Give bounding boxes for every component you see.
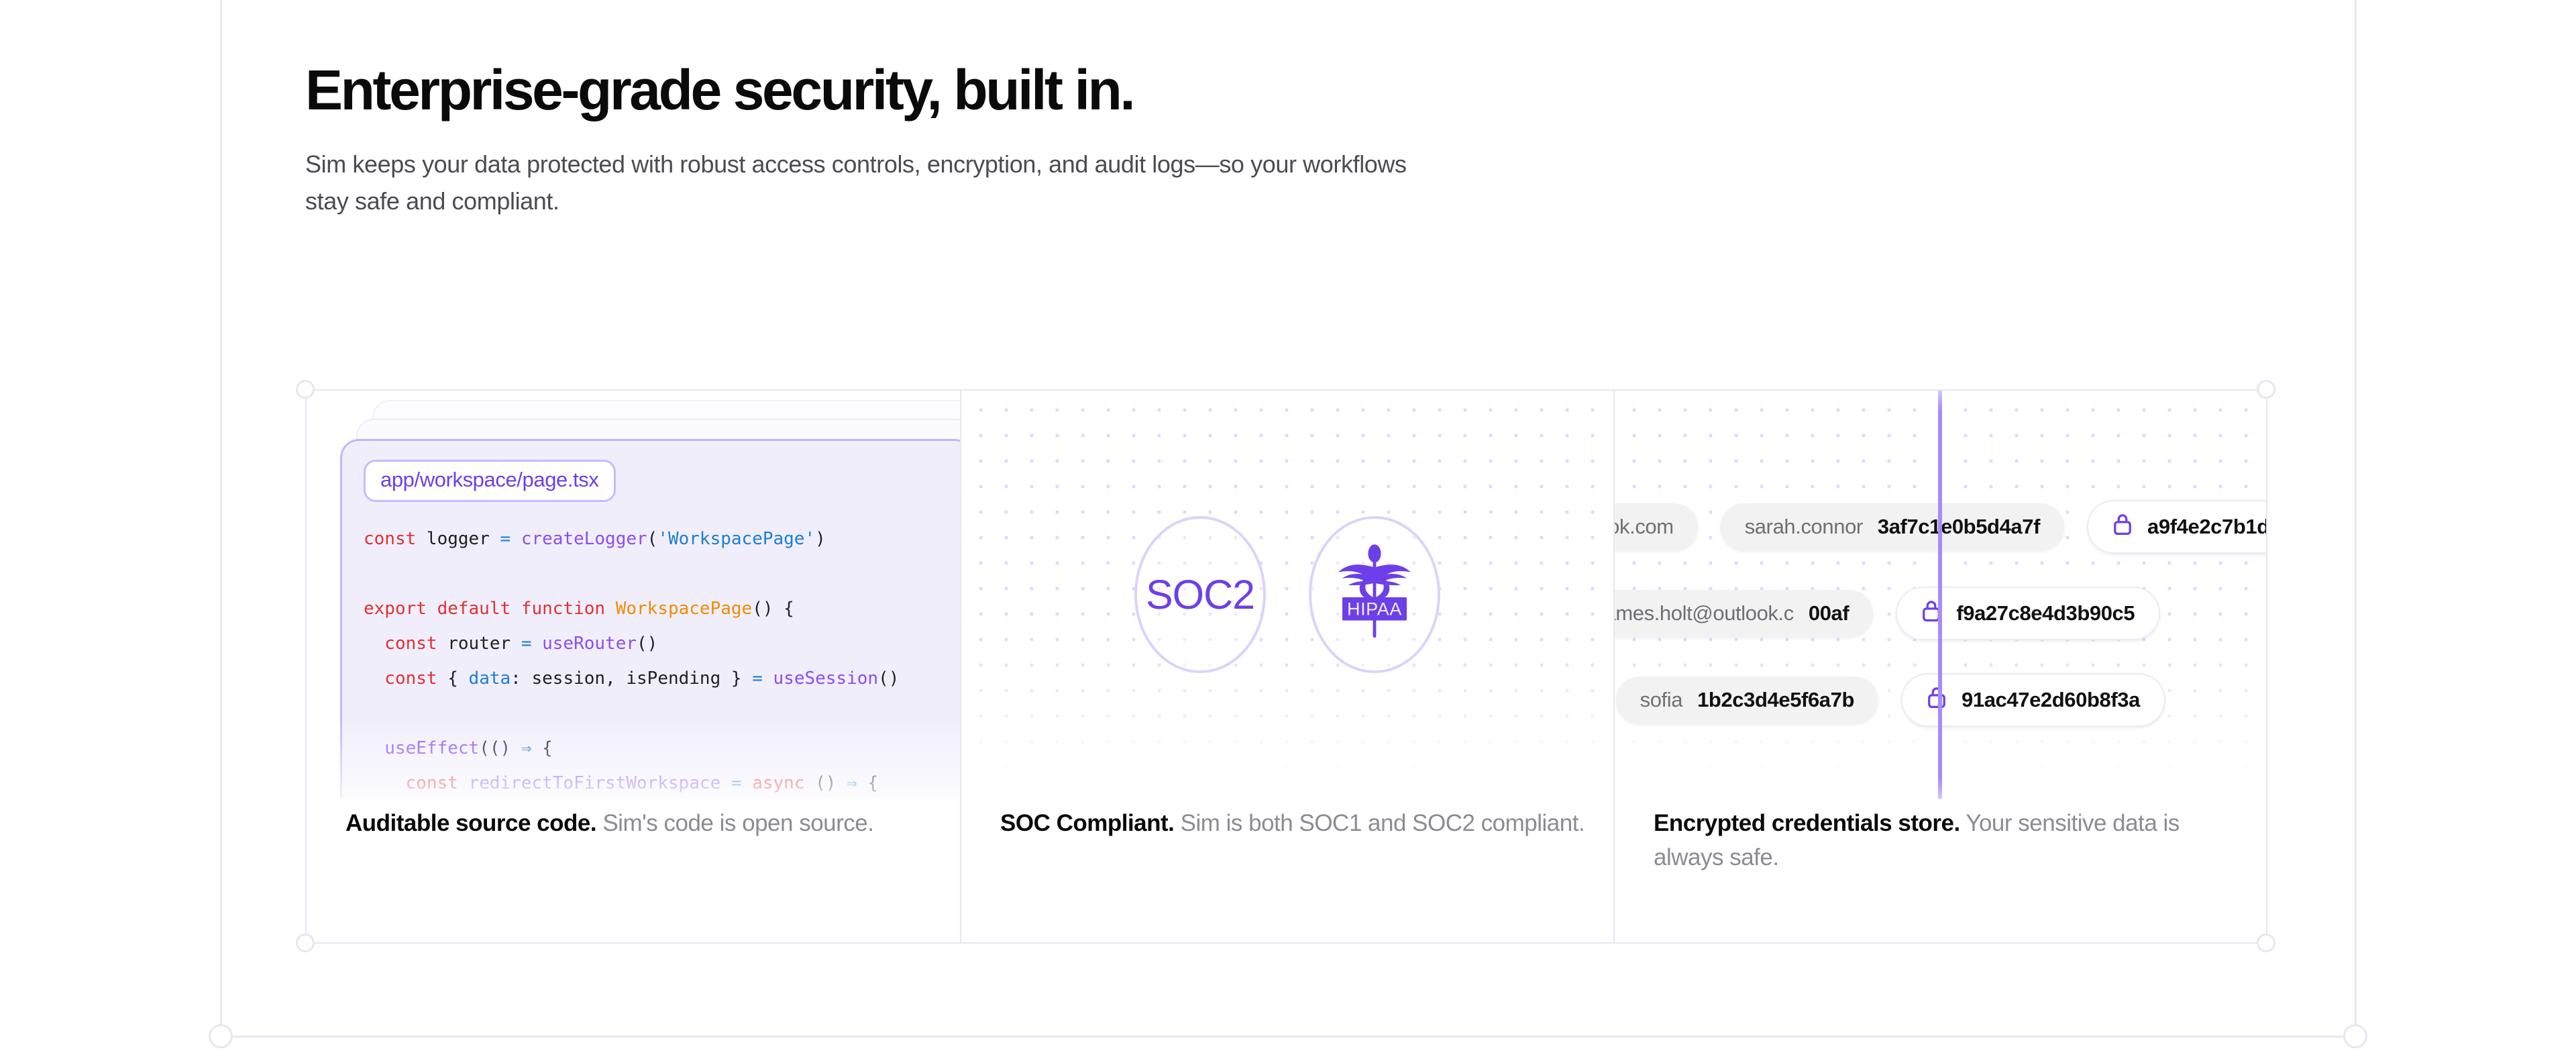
lock-icon <box>1927 686 1947 714</box>
code-line <box>364 696 960 731</box>
frame-line-left <box>220 0 222 1037</box>
code-token: () <box>804 773 847 793</box>
code-line: export default function WorkspacePage() … <box>364 591 960 626</box>
credential-plaintext: james.holt@outlook.c <box>1615 601 1794 625</box>
code-token: ⇒ <box>521 738 532 758</box>
code-token: const <box>364 529 427 549</box>
section-header: Enterprise-grade security, built in. Sim… <box>305 60 1915 220</box>
grid-corner-dot-bottom-right <box>2257 934 2275 952</box>
encryption-scan-line <box>1938 391 1942 799</box>
credential-plaintext: sarah.connor <box>1745 515 1863 539</box>
credential-pill-encrypting[interactable]: james.holt@outlook.c00af <box>1615 590 1873 637</box>
credential-ciphertext: 00af <box>1809 601 1849 625</box>
svg-text:HIPAA: HIPAA <box>1347 599 1402 619</box>
code-panel: app/workspace/page.tsx const logger = cr… <box>340 439 960 799</box>
code-token: const <box>364 773 469 793</box>
lock-icon <box>2112 513 2133 541</box>
code-token: useSession <box>773 668 879 689</box>
credential-ciphertext: f9a27c8e4d3b90c5 <box>1956 601 2135 625</box>
code-token: const <box>364 634 447 654</box>
credential-row: sofia.lee@gmail.comsofia1b2c3d4e5f6a7b91… <box>1615 673 2165 727</box>
frame-line-bottom <box>220 1036 2356 1038</box>
code-token: ⇒ <box>847 773 857 793</box>
code-token: logger <box>427 529 500 549</box>
code-token: useRouter <box>542 634 637 654</box>
code-token: ) <box>815 529 826 549</box>
credential-plaintext: sofia <box>1640 688 1682 712</box>
code-token: useEffect <box>364 738 479 758</box>
code-token: () <box>878 668 899 689</box>
card-caption-bold: Auditable source code. <box>345 810 596 836</box>
code-line: const router = useRouter() <box>364 626 960 661</box>
code-token: async <box>752 773 804 793</box>
grid-corner-dot-top-left <box>296 380 315 399</box>
card-caption-bold: Encrypted credentials store. <box>1654 810 1960 836</box>
code-line <box>364 556 960 591</box>
credential-pill-encrypting[interactable]: sarah.connor3af7c1e0b5d4a7f <box>1721 503 2064 550</box>
card-caption: Encrypted credentials store. Your sensit… <box>1654 807 2239 875</box>
card-caption-bold: SOC Compliant. <box>1000 810 1174 836</box>
credentials-visual: marcus.reed@outlook.comsarah.connor3af7c… <box>1615 391 2266 799</box>
code-token: const <box>364 668 447 689</box>
code-token: = <box>752 668 773 689</box>
code-preview: app/workspace/page.tsx const logger = cr… <box>307 391 960 799</box>
code-line: const redirectToFirstWorkspace = async (… <box>364 766 960 799</box>
code-token: () <box>637 634 657 654</box>
code-line: useEffect(() ⇒ { <box>364 731 960 766</box>
code-line: const { data: session, isPending } = use… <box>364 661 960 696</box>
feature-card-encrypted-credentials-store: marcus.reed@outlook.comsarah.connor3af7c… <box>1613 391 2266 942</box>
code-block: const logger = createLogger('WorkspacePa… <box>364 521 960 799</box>
credential-pill-encrypting[interactable]: sofia1b2c3d4e5f6a7b <box>1616 676 1878 723</box>
grid-corner-dot-bottom-left <box>296 934 315 952</box>
code-token: = <box>521 634 542 654</box>
caduceus-icon: HIPAA <box>1332 543 1417 647</box>
page-title: Enterprise-grade security, built in. <box>305 60 1915 119</box>
code-token: : session, isPending } <box>511 668 752 689</box>
badge-hipaa: HIPAA <box>1309 516 1440 673</box>
frame-corner-dot-bottom-left <box>209 1024 233 1048</box>
code-token: (() <box>479 738 521 758</box>
credential-pill-encrypted[interactable]: a9f4e2c7b1d8036e <box>2087 500 2266 554</box>
code-token: data <box>469 668 511 689</box>
credential-ciphertext: 91ac47e2d60b8f3a <box>1962 688 2140 712</box>
credential-row: elena.park@icloud.comjames.holt@outlook.… <box>1615 587 2160 640</box>
code-token: export default function <box>364 599 616 619</box>
card-caption: SOC Compliant. Sim is both SOC1 and SOC2… <box>1000 807 1587 841</box>
feature-card-auditable-source-code: app/workspace/page.tsx const logger = cr… <box>307 391 960 942</box>
code-token: { <box>531 738 552 758</box>
code-token: router <box>447 634 521 654</box>
page-subtitle: Sim keeps your data protected with robus… <box>305 146 1419 219</box>
credential-ciphertext: 3af7c1e0b5d4a7f <box>1878 515 2040 539</box>
code-token: redirectToFirstWorkspace <box>469 773 731 793</box>
badge-soc2: SOC2 <box>1134 516 1266 673</box>
card-caption-rest: Sim is both SOC1 and SOC2 compliant. <box>1174 810 1585 836</box>
compliance-badges-visual: SOC2 <box>961 391 1613 799</box>
code-token: { <box>857 773 878 793</box>
code-token: () { <box>752 599 794 619</box>
code-token: 'WorkspacePage' <box>657 529 815 549</box>
code-token: = <box>731 773 752 793</box>
credential-ciphertext: 1b2c3d4e5f6a7b <box>1697 688 1854 712</box>
code-line: const logger = createLogger('WorkspacePa… <box>364 521 960 556</box>
frame-corner-dot-bottom-right <box>2343 1024 2367 1048</box>
code-token: createLogger <box>521 529 647 549</box>
code-token: { <box>447 668 468 689</box>
card-caption: Auditable source code. Sim's code is ope… <box>345 807 933 841</box>
code-token: WorkspacePage <box>616 599 753 619</box>
code-token: ( <box>647 529 658 549</box>
compliance-badges: SOC2 <box>961 391 1613 799</box>
feature-grid: app/workspace/page.tsx const logger = cr… <box>305 389 2267 944</box>
credential-ciphertext: a9f4e2c7b1d8036e <box>2147 515 2266 539</box>
badge-soc2-label: SOC2 <box>1146 571 1254 618</box>
card-caption-rest: Sim's code is open source. <box>596 810 873 836</box>
code-filename-tag: app/workspace/page.tsx <box>364 460 616 502</box>
credential-pill-plaintext[interactable]: marcus.reed@outlook.com <box>1615 503 1698 550</box>
feature-card-soc-compliant: SOC2 <box>960 391 1613 942</box>
credential-pill-encrypted[interactable]: f9a27c8e4d3b90c5 <box>1896 587 2160 640</box>
frame-line-right <box>2355 0 2357 1037</box>
code-token: = <box>500 529 521 549</box>
grid-corner-dot-top-right <box>2257 380 2275 399</box>
